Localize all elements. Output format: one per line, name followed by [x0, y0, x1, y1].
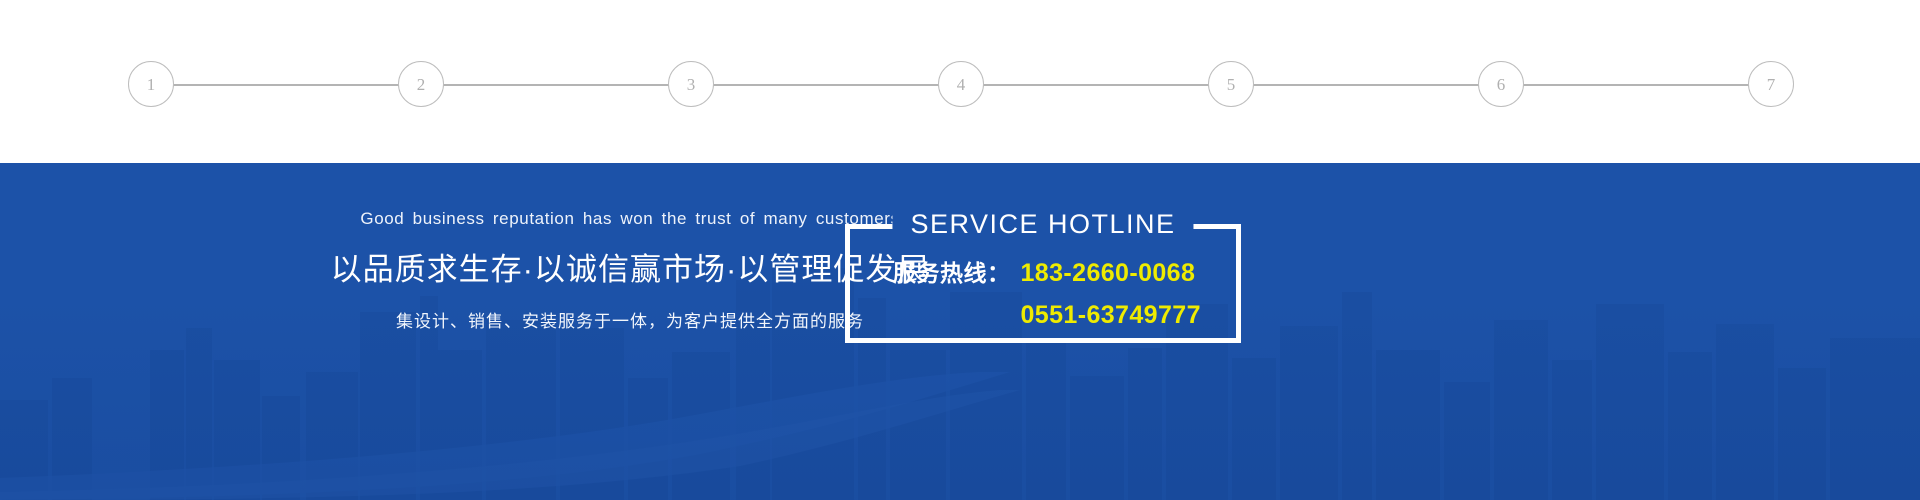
step-node-3[interactable]: 3: [668, 61, 714, 107]
step-node-label: 4: [957, 76, 966, 93]
step-node-label: 2: [417, 76, 426, 93]
hotline-number-primary[interactable]: 183-2660-0068: [1021, 259, 1196, 288]
step-node-label: 7: [1767, 76, 1776, 93]
step-node-6[interactable]: 6: [1478, 61, 1524, 107]
step-node-label: 6: [1497, 76, 1506, 93]
step-node-1[interactable]: 1: [128, 61, 174, 107]
step-node-7[interactable]: 7: [1748, 61, 1794, 107]
stepper-strip: 1 2 3 4 5 6 7: [0, 0, 1920, 163]
hotline-row: 服务热线： 183-2660-0068: [845, 254, 1241, 288]
hotline-panel: SERVICE HOTLINE 服务热线： 183-2660-0068 服务热线…: [845, 198, 1241, 343]
hotline-rows: 服务热线： 183-2660-0068 服务热线： 0551-63749777: [845, 254, 1241, 330]
hotline-label-spacer: 服务热线：: [893, 296, 1011, 330]
page-root: 1 2 3 4 5 6 7: [0, 0, 1920, 500]
step-node-5[interactable]: 5: [1208, 61, 1254, 107]
step-node-4[interactable]: 4: [938, 61, 984, 107]
hotline-number-secondary[interactable]: 0551-63749777: [1021, 301, 1201, 330]
step-node-label: 3: [687, 76, 696, 93]
step-node-label: 5: [1227, 76, 1236, 93]
hotline-title: SERVICE HOTLINE: [892, 198, 1193, 250]
hotline-row: 服务热线： 0551-63749777: [845, 296, 1241, 330]
step-node-2[interactable]: 2: [398, 61, 444, 107]
step-node-label: 1: [147, 76, 156, 93]
promo-banner: Good business reputation has won the tru…: [0, 163, 1920, 500]
hotline-label: 服务热线：: [893, 254, 1011, 288]
promo-content: Good business reputation has won the tru…: [0, 163, 1920, 500]
